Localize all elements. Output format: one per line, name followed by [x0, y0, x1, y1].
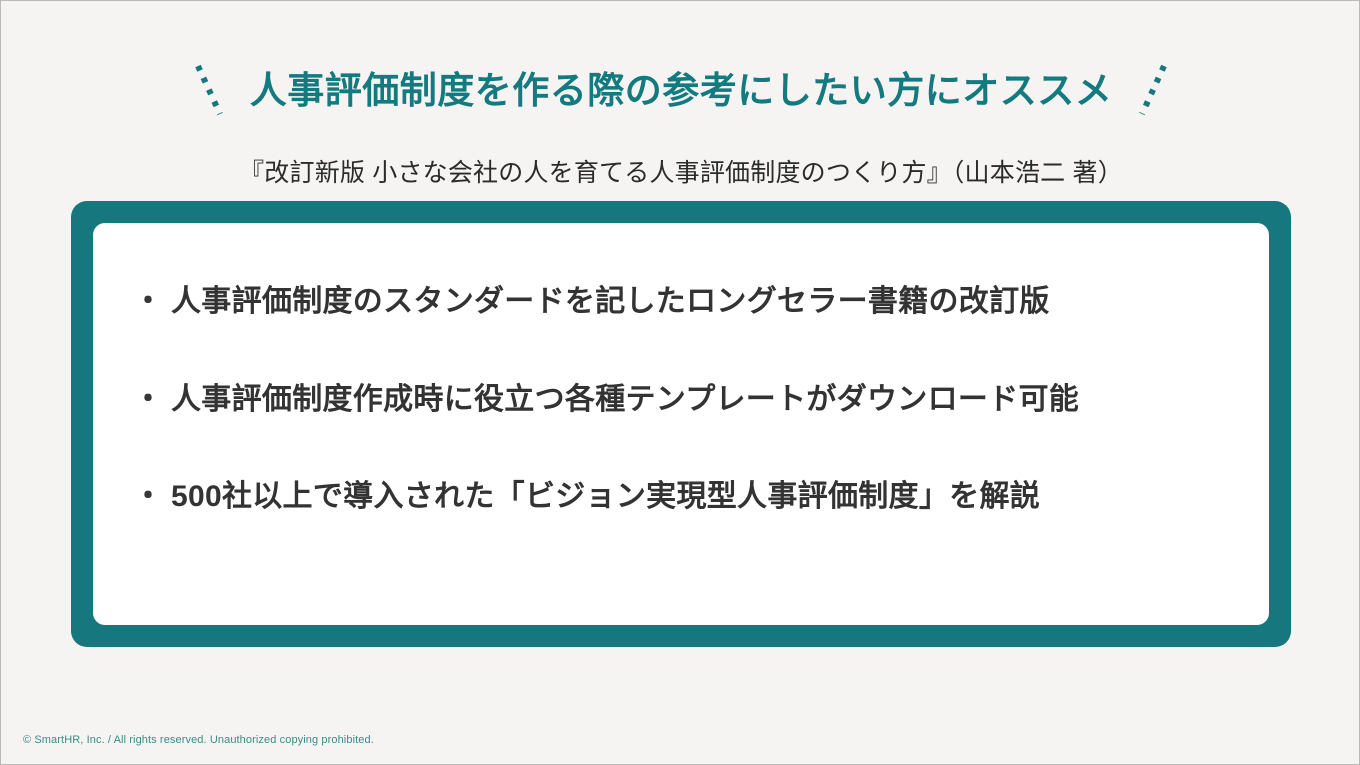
list-item: ・ 人事評価制度のスタンダードを記したロングセラー書籍の改訂版	[133, 285, 1229, 320]
highlight-card-inner: ・ 人事評価制度のスタンダードを記したロングセラー書籍の改訂版 ・ 人事評価制度…	[93, 223, 1269, 625]
title-row: 人事評価制度を作る際の参考にしたい方にオススメ	[1, 59, 1360, 121]
highlight-card: ・ 人事評価制度のスタンダードを記したロングセラー書籍の改訂版 ・ 人事評価制度…	[71, 201, 1291, 647]
bullet-marker-icon: ・	[133, 383, 171, 418]
list-item: ・ 人事評価制度作成時に役立つ各種テンプレートがダウンロード可能	[133, 383, 1229, 418]
bullet-list: ・ 人事評価制度のスタンダードを記したロングセラー書籍の改訂版 ・ 人事評価制度…	[133, 285, 1229, 515]
bullet-text: 500社以上で導入された「ビジョン実現型人事評価制度」を解説	[171, 480, 1040, 515]
list-item: ・ 500社以上で導入された「ビジョン実現型人事評価制度」を解説	[133, 480, 1229, 515]
dashed-diagonal-right-icon	[1138, 61, 1168, 119]
bullet-marker-icon: ・	[133, 285, 171, 320]
slide-canvas: 人事評価制度を作る際の参考にしたい方にオススメ 『改訂新版 小さな会社の人を育て…	[0, 0, 1360, 765]
bullet-marker-icon: ・	[133, 480, 171, 515]
page-title: 人事評価制度を作る際の参考にしたい方にオススメ	[250, 72, 1113, 109]
dashed-diagonal-left-icon	[194, 61, 224, 119]
bullet-text: 人事評価制度のスタンダードを記したロングセラー書籍の改訂版	[171, 285, 1050, 320]
copyright-footer: © SmartHR, Inc. / All rights reserved. U…	[23, 734, 374, 746]
book-subtitle: 『改訂新版 小さな会社の人を育てる人事評価制度のつくり方』（山本浩二 著）	[1, 153, 1360, 189]
bullet-text: 人事評価制度作成時に役立つ各種テンプレートがダウンロード可能	[171, 383, 1079, 418]
